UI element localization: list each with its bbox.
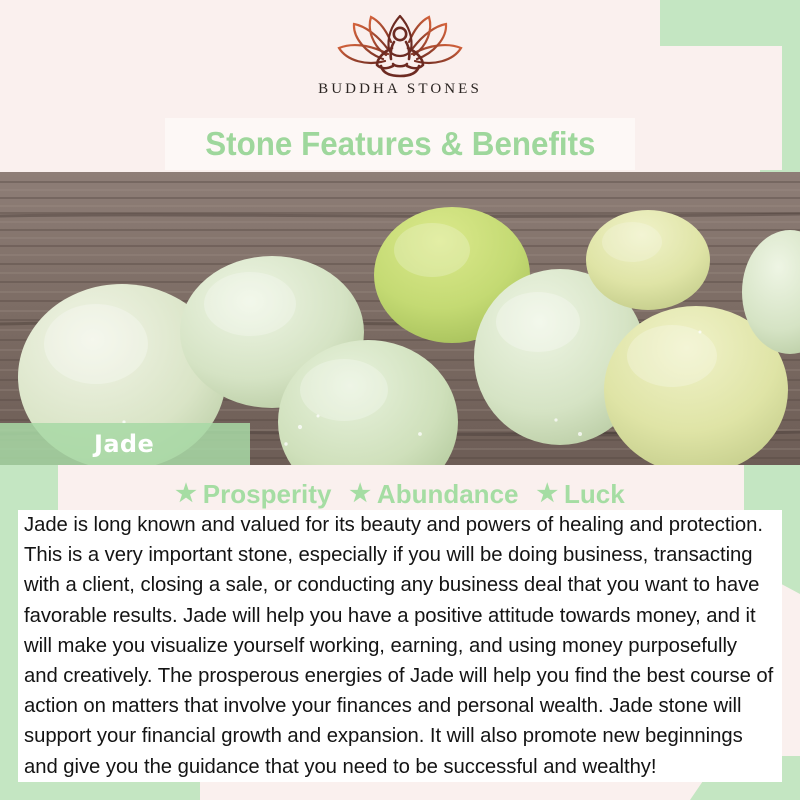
page-title: Stone Features & Benefits: [205, 125, 595, 163]
keyword-luck: ★ Luck: [528, 479, 634, 510]
stone-name-bar: Jade: [0, 423, 250, 465]
lotus-meditation-logo-icon: [325, 14, 475, 78]
description-text: Jade is long known and valued for its be…: [24, 510, 776, 782]
brand-name: BUDDHA STONES: [318, 81, 482, 98]
keyword-row: ★ Prosperity ★ Abundance ★ Luck: [0, 478, 800, 510]
star-icon: ★: [349, 482, 371, 506]
keyword-prosperity: ★ Prosperity: [166, 479, 340, 510]
star-icon: ★: [175, 482, 197, 506]
star-icon: ★: [537, 482, 559, 506]
stone-name: Jade: [94, 430, 154, 458]
keyword-label: Luck: [564, 479, 625, 510]
title-banner: Stone Features & Benefits: [165, 118, 635, 170]
stone-photo: [0, 172, 800, 465]
stone-benefits-card: BUDDHA STONES Stone Features & Benefits: [0, 0, 800, 800]
keyword-label: Abundance: [377, 479, 519, 510]
keyword-label: Prosperity: [203, 479, 332, 510]
brand-header: BUDDHA STONES: [0, 0, 800, 120]
description-panel: Jade is long known and valued for its be…: [18, 510, 782, 782]
keyword-abundance: ★ Abundance: [340, 479, 527, 510]
